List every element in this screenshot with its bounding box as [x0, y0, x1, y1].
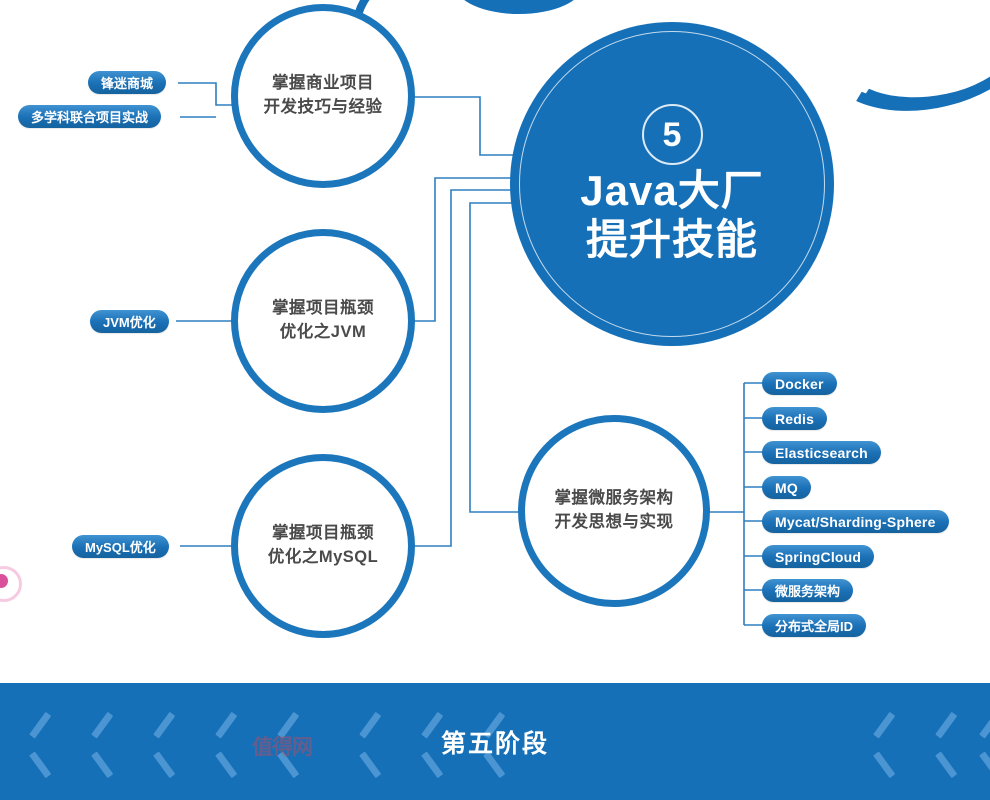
node-circle-mysql-bottleneck[interactable]: 掌握项目瓶颈 优化之MySQL [231, 454, 415, 638]
tag-label: MySQL优化 [85, 537, 156, 556]
tag-mycat-sharding-sphere[interactable]: Mycat/Sharding-Sphere [762, 510, 949, 533]
node-circle-microservice[interactable]: 掌握微服务架构 开发思想与实现 [518, 415, 710, 607]
tag-label: Redis [775, 411, 814, 427]
node-label: 掌握商业项目 开发技巧与经验 [264, 72, 383, 120]
tag-docker[interactable]: Docker [762, 372, 837, 395]
hub-circle[interactable]: 5 Java大厂 提升技能 [510, 22, 834, 346]
hub-step-badge: 5 [642, 104, 703, 165]
tag-label: 多学科联合项目实战 [31, 107, 148, 126]
tag-springcloud[interactable]: SpringCloud [762, 545, 874, 568]
tag-label: MQ [775, 480, 798, 496]
footer-stage-title: 第五阶段 [0, 724, 990, 760]
footer-banner: 第五阶段 [0, 683, 990, 800]
tag-label: JVM优化 [103, 312, 156, 331]
tag-label: 锋迷商城 [101, 73, 153, 92]
tag-label: Docker [775, 376, 824, 392]
tag-label: Elasticsearch [775, 445, 868, 461]
node-label: 掌握微服务架构 开发思想与实现 [555, 487, 674, 535]
node-label: 掌握项目瓶颈 优化之JVM [272, 297, 374, 345]
watermark-text: 值得网 [222, 726, 342, 770]
top-decor-arc-right-2 [819, 0, 990, 124]
node-circle-jvm-bottleneck[interactable]: 掌握项目瓶颈 优化之JVM [231, 229, 415, 413]
node-circle-business-project[interactable]: 掌握商业项目 开发技巧与经验 [231, 4, 415, 188]
tag-mq[interactable]: MQ [762, 476, 811, 499]
node-label: 掌握项目瓶颈 优化之MySQL [268, 522, 378, 570]
tag-elasticsearch[interactable]: Elasticsearch [762, 441, 881, 464]
tag-jvm-opt[interactable]: JVM优化 [90, 310, 169, 333]
tag-label: 分布式全局ID [775, 616, 853, 635]
hub-title-line2: 提升技能 [586, 216, 758, 264]
tag-mysql-opt[interactable]: MySQL优化 [72, 535, 169, 558]
tag-label: 微服务架构 [775, 581, 840, 600]
tag-fengmi-mall[interactable]: 锋迷商城 [88, 71, 166, 94]
top-decor-blob [455, 0, 583, 14]
tag-distributed-global-id[interactable]: 分布式全局ID [762, 614, 866, 637]
tag-label: SpringCloud [775, 549, 861, 565]
tag-redis[interactable]: Redis [762, 407, 827, 430]
tag-micro-architecture[interactable]: 微服务架构 [762, 579, 853, 602]
tag-multi-discipline[interactable]: 多学科联合项目实战 [18, 105, 161, 128]
infographic-canvas: 5 Java大厂 提升技能 掌握商业项目 开发技巧与经验 掌握项目瓶颈 优化之J… [0, 0, 990, 800]
tag-label: Mycat/Sharding-Sphere [775, 514, 936, 530]
hub-title-line1: Java大厂 [580, 167, 763, 215]
